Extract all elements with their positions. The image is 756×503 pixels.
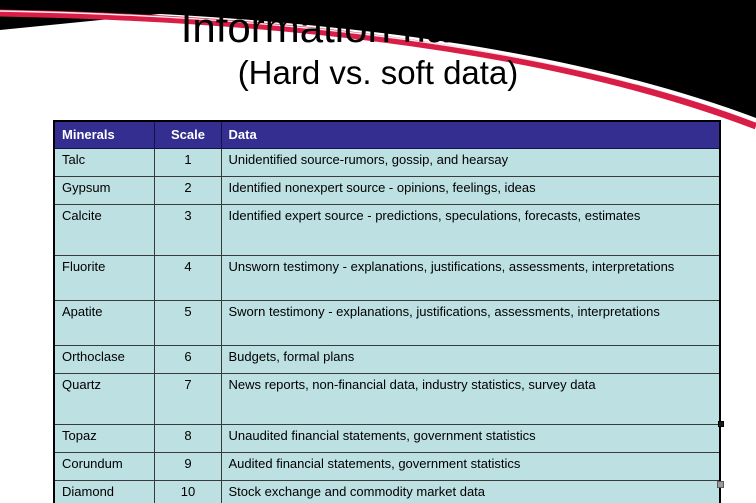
page-title: Information hardness [0,6,756,51]
title-block: Information hardness (Hard vs. soft data… [0,6,756,91]
table-row[interactable]: Quartz 7 News reports, non-financial dat… [54,374,720,425]
column-header-data: Data [221,121,720,149]
cell-data: Audited financial statements, government… [221,453,720,481]
table-row[interactable]: Topaz 8 Unaudited financial statements, … [54,425,720,453]
column-header-scale: Scale [154,121,221,149]
cell-mineral: Gypsum [54,177,154,205]
cell-data: Sworn testimony - explanations, justific… [221,301,720,346]
cell-data: Stock exchange and commodity market data [221,481,720,503]
page-subtitle: (Hard vs. soft data) [0,55,756,91]
cell-mineral: Apatite [54,301,154,346]
cell-data: Unsworn testimony - explanations, justif… [221,256,720,301]
cell-scale: 7 [154,374,221,425]
cell-scale: 2 [154,177,221,205]
cell-mineral: Orthoclase [54,346,154,374]
table-body: Talc 1 Unidentified source-rumors, gossi… [54,149,720,503]
table-row[interactable]: Fluorite 4 Unsworn testimony - explanati… [54,256,720,301]
cell-mineral: Calcite [54,205,154,256]
cell-mineral: Corundum [54,453,154,481]
cell-mineral: Quartz [54,374,154,425]
cell-scale: 3 [154,205,221,256]
cell-data: News reports, non-financial data, indust… [221,374,720,425]
cell-mineral: Fluorite [54,256,154,301]
cell-scale: 5 [154,301,221,346]
selection-handle-middle-right[interactable] [718,421,724,427]
cell-mineral: Diamond [54,481,154,503]
information-hardness-table: Minerals Scale Data Talc 1 Unidentified … [53,120,721,503]
cell-data: Unaudited financial statements, governme… [221,425,720,453]
table-row[interactable]: Talc 1 Unidentified source-rumors, gossi… [54,149,720,177]
table-row[interactable]: Gypsum 2 Identified nonexpert source - o… [54,177,720,205]
cell-mineral: Topaz [54,425,154,453]
table-row[interactable]: Corundum 9 Audited financial statements,… [54,453,720,481]
cell-mineral: Talc [54,149,154,177]
cell-scale: 9 [154,453,221,481]
cell-scale: 1 [154,149,221,177]
column-header-minerals: Minerals [54,121,154,149]
cell-data: Unidentified source-rumors, gossip, and … [221,149,720,177]
cell-scale: 10 [154,481,221,503]
table-header-row: Minerals Scale Data [54,121,720,149]
cell-scale: 4 [154,256,221,301]
cell-scale: 8 [154,425,221,453]
table-row[interactable]: Orthoclase 6 Budgets, formal plans [54,346,720,374]
slide-canvas: Information hardness (Hard vs. soft data… [0,0,756,503]
hardness-table-container[interactable]: Minerals Scale Data Talc 1 Unidentified … [53,120,719,503]
cell-data: Identified nonexpert source - opinions, … [221,177,720,205]
table-row[interactable]: Calcite 3 Identified expert source - pre… [54,205,720,256]
selection-handle-bottom-right[interactable] [717,481,724,488]
table-row[interactable]: Diamond 10 Stock exchange and commodity … [54,481,720,503]
cell-data: Budgets, formal plans [221,346,720,374]
cell-scale: 6 [154,346,221,374]
cell-data: Identified expert source - predictions, … [221,205,720,256]
table-row[interactable]: Apatite 5 Sworn testimony - explanations… [54,301,720,346]
